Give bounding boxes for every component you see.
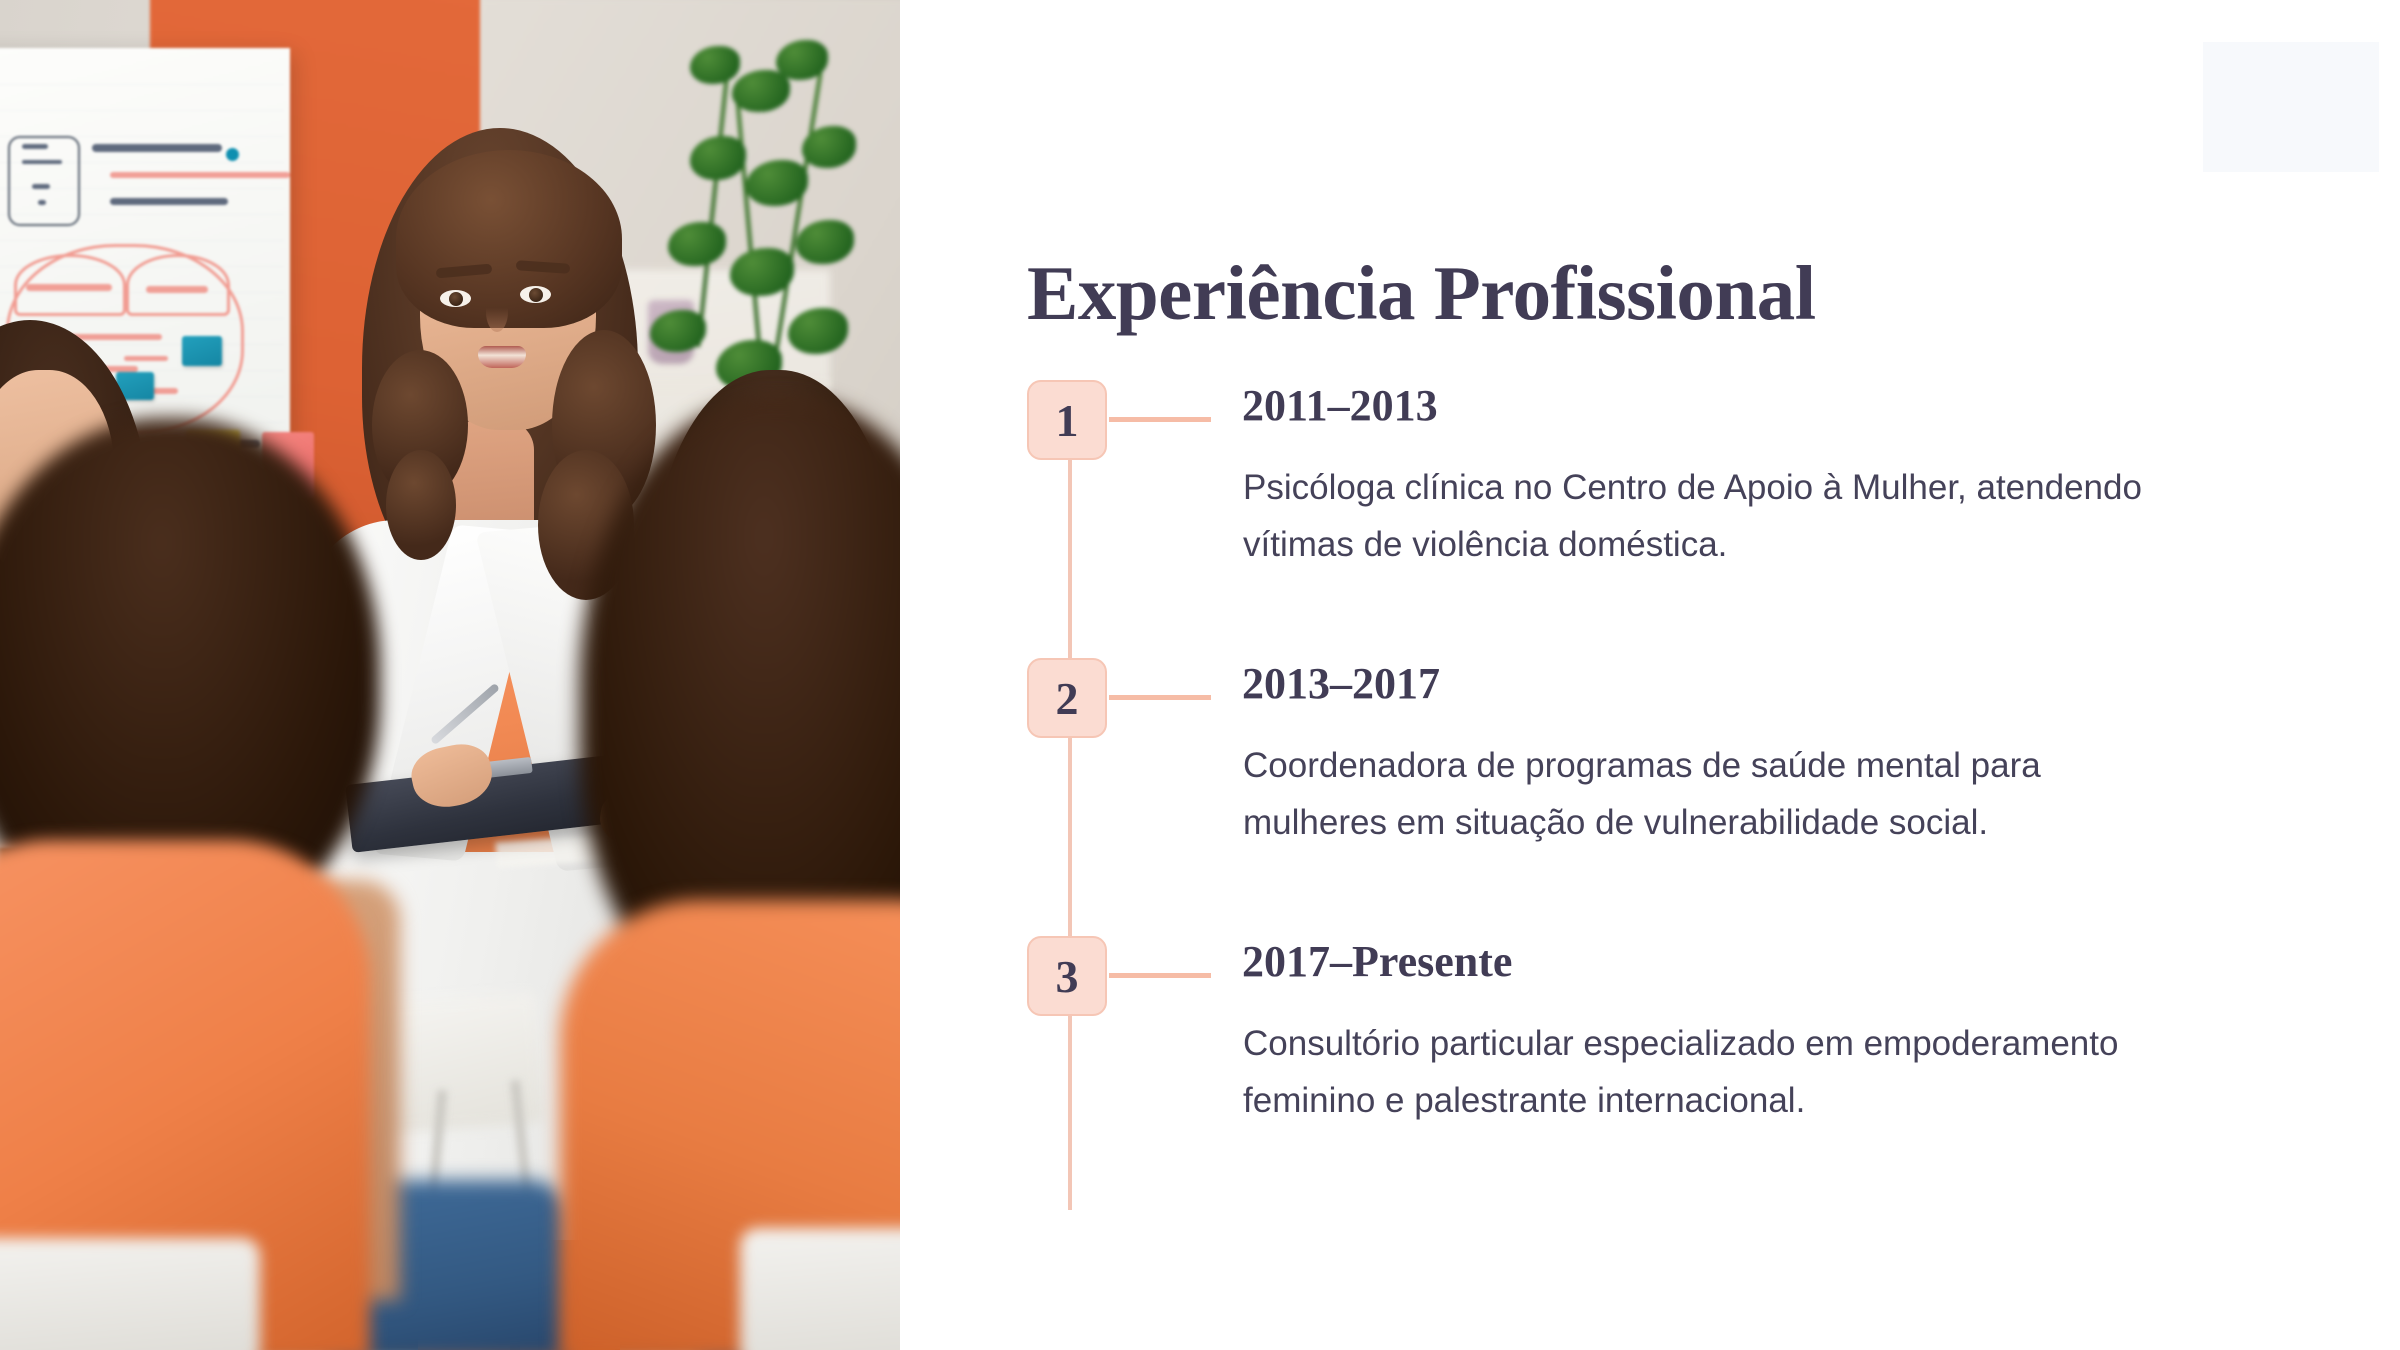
timeline-connector-line: [1109, 973, 1211, 978]
timeline-period: 2017–Presente: [1242, 934, 1512, 989]
timeline-badge: 3: [1027, 936, 1107, 1016]
timeline-period: 2011–2013: [1242, 378, 1438, 433]
timeline-item[interactable]: 3 2017–Presente Consultório particular e…: [1027, 936, 2307, 1176]
presentation-photo: [0, 0, 900, 1350]
slide-experiencia-profissional: Experiência Profissional 1 2011–2013 Psi…: [0, 0, 2400, 1350]
timeline-period: 2013–2017: [1242, 656, 1440, 711]
chair-back: [740, 1228, 900, 1350]
experience-timeline: 1 2011–2013 Psicóloga clínica no Centro …: [1027, 380, 2307, 1176]
timeline-item[interactable]: 1 2011–2013 Psicóloga clínica no Centro …: [1027, 380, 2307, 658]
chair-back: [0, 1238, 260, 1350]
timeline-badge: 1: [1027, 380, 1107, 460]
timeline-item[interactable]: 2 2013–2017 Coordenadora de programas de…: [1027, 658, 2307, 936]
timeline-badge: 2: [1027, 658, 1107, 738]
eye-left: [440, 290, 471, 307]
timeline-description: Consultório particular especializado em …: [1243, 1016, 2143, 1129]
timeline-description: Coordenadora de programas de saúde menta…: [1243, 738, 2143, 851]
eye-right: [520, 286, 551, 303]
decorative-rectangle: [2203, 42, 2379, 172]
content-panel: Experiência Profissional 1 2011–2013 Psi…: [900, 0, 2400, 1350]
page-title: Experiência Profissional: [1027, 252, 1816, 335]
timeline-connector-line: [1109, 417, 1211, 422]
timeline-connector-line: [1109, 695, 1211, 700]
timeline-description: Psicóloga clínica no Centro de Apoio à M…: [1243, 460, 2143, 573]
